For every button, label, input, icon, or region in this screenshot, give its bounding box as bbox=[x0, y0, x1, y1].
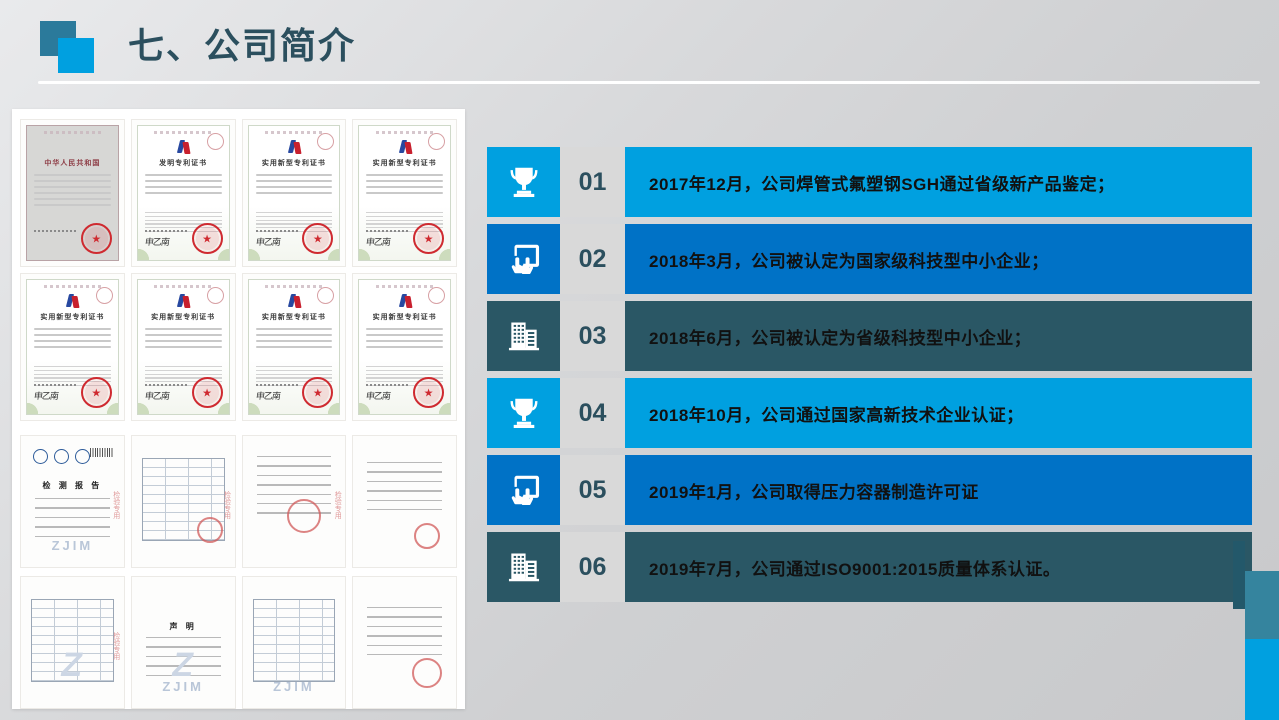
building-icon bbox=[487, 301, 560, 371]
page-title: 七、公司简介 bbox=[128, 17, 356, 69]
certificate-thumb: 实用新型专利证书 申乙南 bbox=[352, 119, 457, 267]
report-title: 声 明 bbox=[132, 621, 235, 632]
certificate-thumb: 实用新型专利证书 申乙南 bbox=[242, 273, 347, 421]
report-thumb: 检 测 报 告 ZJIM 检验专用 bbox=[20, 435, 125, 568]
report-row: Z 检验专用 声 明 Z ZJIM ZJIM bbox=[20, 576, 457, 709]
certificate-title: 实用新型专利证书 bbox=[353, 158, 456, 168]
timeline-row[interactable]: 022018年3月，公司被认定为国家级科技型中小企业； bbox=[487, 224, 1252, 294]
timeline-number: 02 bbox=[560, 224, 625, 294]
timeline-row[interactable]: 042018年10月，公司通过国家高新技术企业认证； bbox=[487, 378, 1252, 448]
timeline-number: 03 bbox=[560, 301, 625, 371]
timeline-text: 2019年7月，公司通过ISO9001:2015质量体系认证。 bbox=[625, 532, 1252, 602]
certificate-row: 实用新型专利证书 申乙南 实用新型专利证书 申乙南 实用新型专利证书 bbox=[20, 273, 457, 421]
accent-bar-dark bbox=[1233, 541, 1245, 609]
slide-header: 七、公司简介 bbox=[0, 0, 1279, 96]
timeline-number: 04 bbox=[560, 378, 625, 448]
certificate-thumb: 实用新型专利证书 申乙南 bbox=[352, 273, 457, 421]
tablet-hands-icon bbox=[487, 224, 560, 294]
timeline-text: 2018年10月，公司通过国家高新技术企业认证； bbox=[625, 378, 1252, 448]
certificate-title: 中华人民共和国 bbox=[21, 158, 124, 168]
report-thumb: 检验专用 bbox=[131, 435, 236, 568]
trophy-icon bbox=[487, 147, 560, 217]
certificate-title: 实用新型专利证书 bbox=[353, 312, 456, 322]
certificate-thumb: 实用新型专利证书 申乙南 bbox=[242, 119, 347, 267]
timeline-text: 2019年1月，公司取得压力容器制造许可证 bbox=[625, 455, 1252, 525]
tablet-hands-icon bbox=[487, 455, 560, 525]
certificate-thumb: 实用新型专利证书 申乙南 bbox=[20, 273, 125, 421]
report-thumb: 声 明 Z ZJIM bbox=[131, 576, 236, 709]
timeline-text: 2018年3月，公司被认定为国家级科技型中小企业； bbox=[625, 224, 1252, 294]
certificate-row: 中华人民共和国 发明专利证书 申乙南 实用新型专利证书 申乙南 bbox=[20, 119, 457, 267]
timeline-row[interactable]: 012017年12月，公司焊管式氟塑钢SGH通过省级新产品鉴定； bbox=[487, 147, 1252, 217]
report-watermark: ZJIM bbox=[132, 679, 235, 694]
report-thumb: 检验专用 bbox=[242, 435, 347, 568]
title-divider bbox=[38, 81, 1260, 84]
report-watermark: ZJIM bbox=[243, 679, 346, 694]
certificate-title: 实用新型专利证书 bbox=[243, 158, 346, 168]
report-thumb bbox=[352, 435, 457, 568]
report-title: 检 测 报 告 bbox=[21, 480, 124, 491]
report-thumb: Z 检验专用 bbox=[20, 576, 125, 709]
timeline-row[interactable]: 032018年6月，公司被认定为省级科技型中小企业； bbox=[487, 301, 1252, 371]
certificate-title: 实用新型专利证书 bbox=[21, 312, 124, 322]
trophy-icon bbox=[487, 378, 560, 448]
certificate-thumb: 发明专利证书 申乙南 bbox=[131, 119, 236, 267]
certificate-title: 实用新型专利证书 bbox=[132, 312, 235, 322]
achievements-timeline: 012017年12月，公司焊管式氟塑钢SGH通过省级新产品鉴定；022018年3… bbox=[487, 147, 1252, 609]
certificates-panel: 中华人民共和国 发明专利证书 申乙南 实用新型专利证书 申乙南 bbox=[12, 109, 465, 709]
certificate-title: 发明专利证书 bbox=[132, 158, 235, 168]
timeline-number: 01 bbox=[560, 147, 625, 217]
timeline-number: 06 bbox=[560, 532, 625, 602]
timeline-number: 05 bbox=[560, 455, 625, 525]
report-thumb bbox=[352, 576, 457, 709]
timeline-text: 2017年12月，公司焊管式氟塑钢SGH通过省级新产品鉴定； bbox=[625, 147, 1252, 217]
decor-square-light bbox=[58, 38, 94, 73]
report-row: 检 测 报 告 ZJIM 检验专用 检验专用 检验专用 bbox=[20, 435, 457, 568]
report-watermark: ZJIM bbox=[21, 538, 124, 553]
timeline-text: 2018年6月，公司被认定为省级科技型中小企业； bbox=[625, 301, 1252, 371]
timeline-row[interactable]: 062019年7月，公司通过ISO9001:2015质量体系认证。 bbox=[487, 532, 1252, 602]
accent-bar-teal bbox=[1245, 571, 1279, 639]
building-icon bbox=[487, 532, 560, 602]
accent-bar-blue bbox=[1245, 639, 1279, 720]
certificate-thumb: 实用新型专利证书 申乙南 bbox=[131, 273, 236, 421]
certificate-title: 实用新型专利证书 bbox=[243, 312, 346, 322]
certificate-thumb: 中华人民共和国 bbox=[20, 119, 125, 267]
timeline-row[interactable]: 052019年1月，公司取得压力容器制造许可证 bbox=[487, 455, 1252, 525]
report-thumb: ZJIM bbox=[242, 576, 347, 709]
